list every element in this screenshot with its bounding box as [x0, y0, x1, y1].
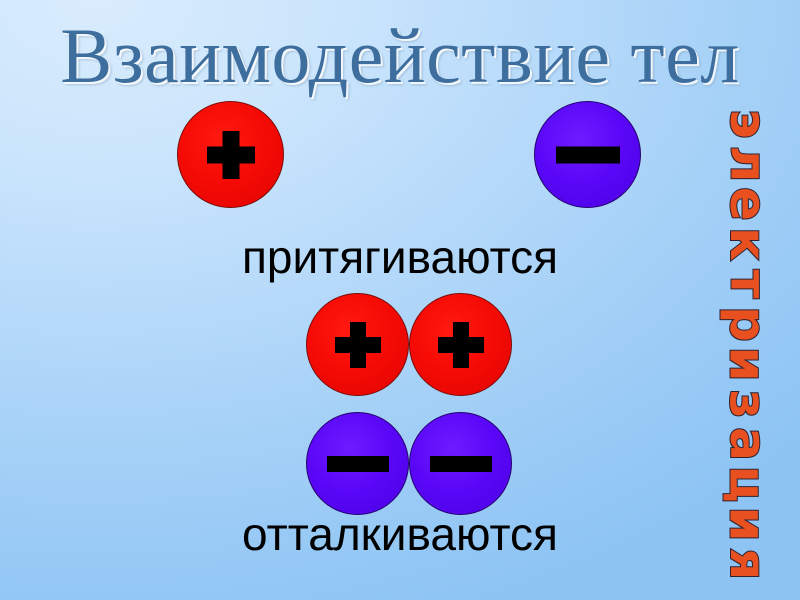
vertical-letter: я — [728, 548, 768, 580]
charge-negative-attract — [534, 101, 641, 208]
minus-sign-icon — [327, 456, 389, 472]
charge-negative-right — [409, 412, 512, 515]
charge-positive-attract — [177, 101, 284, 208]
page-title: Взаимодействие тел — [0, 8, 800, 104]
vertical-letter: р — [728, 306, 768, 342]
vertical-letter: з — [728, 389, 768, 418]
charge-positive-right — [409, 293, 512, 396]
vertical-word-electrification: э л е к т р и з а ц и я — [702, 104, 794, 584]
charge-positive-left — [306, 293, 409, 396]
vertical-letter: л — [728, 146, 768, 183]
vertical-letter: е — [728, 187, 768, 221]
vertical-letter: э — [728, 109, 768, 139]
vertical-letter: а — [728, 427, 768, 461]
charge-negative-left — [306, 412, 409, 515]
minus-sign-icon — [430, 456, 492, 472]
vertical-letter: к — [728, 227, 768, 261]
plus-sign-icon — [207, 131, 255, 179]
vertical-letter: и — [728, 346, 768, 381]
vertical-letter: ц — [728, 465, 768, 502]
plus-sign-icon — [438, 322, 484, 368]
vertical-letter: т — [728, 270, 768, 299]
caption-attract: притягиваются — [0, 232, 800, 282]
slide-canvas: Взаимодействие тел притягиваются отталки… — [0, 0, 800, 600]
caption-repel: отталкиваются — [0, 509, 800, 559]
plus-sign-icon — [335, 322, 381, 368]
vertical-letter: и — [728, 506, 768, 541]
minus-sign-icon — [556, 146, 620, 163]
